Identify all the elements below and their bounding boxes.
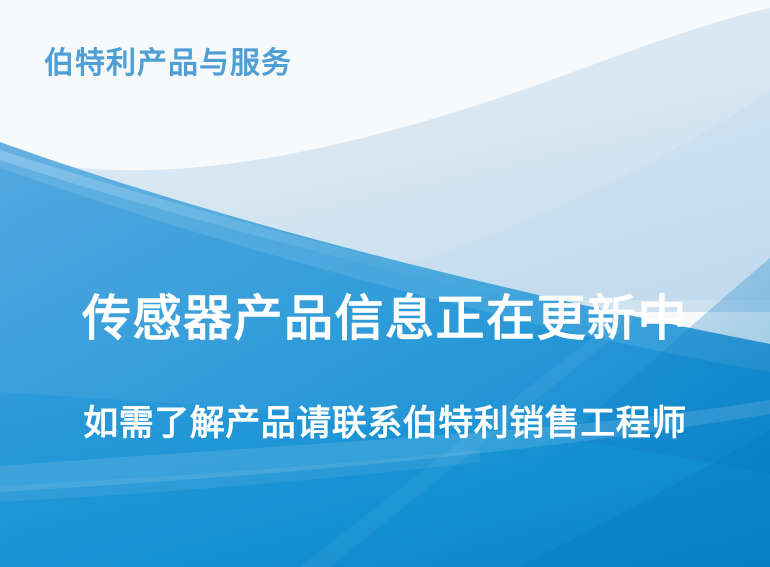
headline-block: 传感器产品信息正在更新中	[0, 292, 770, 347]
brand-eyebrow-title: 伯特利产品与服务	[44, 46, 292, 82]
sub-headline: 如需了解产品请联系伯特利销售工程师	[0, 404, 770, 444]
decorative-background-artwork	[0, 0, 770, 567]
main-headline: 传感器产品信息正在更新中	[0, 292, 770, 347]
product-placeholder-banner: 伯特利产品与服务 传感器产品信息正在更新中 如需了解产品请联系伯特利销售工程师	[0, 0, 770, 567]
